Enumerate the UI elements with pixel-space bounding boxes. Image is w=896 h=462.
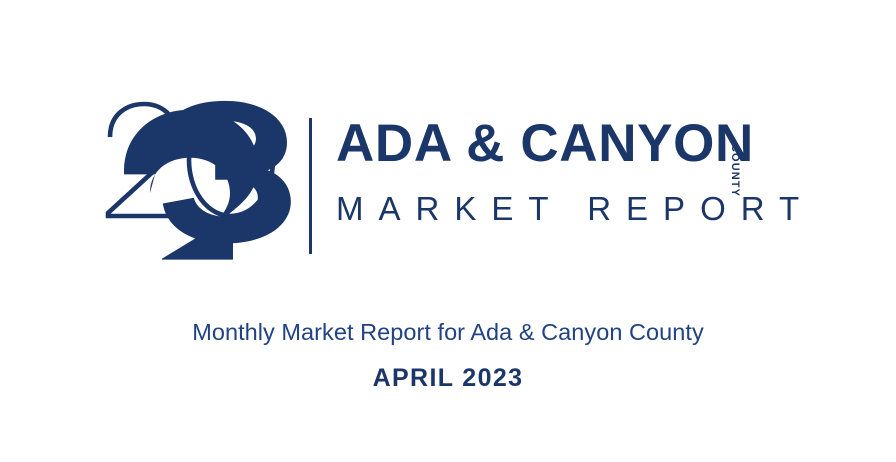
logo-divider-rule xyxy=(309,118,312,254)
report-cover-page: ADA & CANYON COUNTY MARKET REPORT Monthl… xyxy=(0,0,896,462)
brand-logo-lockup: ADA & CANYON COUNTY MARKET REPORT xyxy=(0,96,896,264)
brand-name-line: ADA & CANYON COUNTY xyxy=(336,96,814,192)
year-2023-logomark xyxy=(100,96,305,264)
county-superscript-text: COUNTY xyxy=(729,144,741,197)
brand-name-text: ADA & CANYON xyxy=(336,96,754,192)
brand-wordmark: ADA & CANYON COUNTY MARKET REPORT xyxy=(336,96,814,264)
solid-23 xyxy=(124,101,291,260)
year-2023-graphic xyxy=(100,96,305,264)
county-superscript: COUNTY xyxy=(754,96,772,192)
report-month-heading: APRIL 2023 xyxy=(0,362,896,394)
report-subtitle: Monthly Market Report for Ada & Canyon C… xyxy=(0,316,896,348)
tagline-text: MARKET REPORT xyxy=(336,189,814,229)
